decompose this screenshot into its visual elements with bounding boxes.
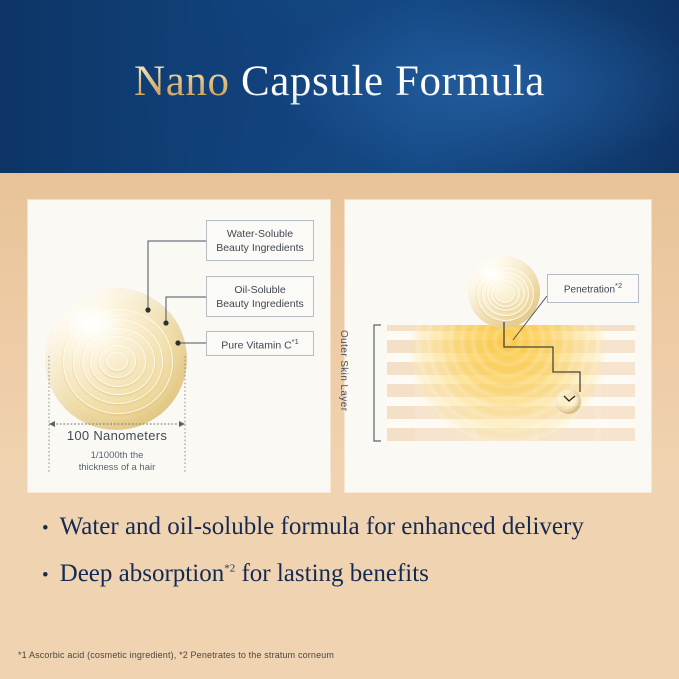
callout-oil-soluble-text: Oil-Soluble Beauty Ingredients <box>216 283 304 311</box>
dimension-label: 100 Nanometers <box>47 428 187 443</box>
list-item: • Deep absorption*2 for lasting benefits <box>42 560 642 588</box>
bullet-dot-icon: • <box>42 566 49 585</box>
dimension-sublabel-line-2: thickness of a hair <box>79 462 156 473</box>
footnote-marker-2: *2 <box>615 281 622 290</box>
page-title: Nano Capsule Formula <box>0 57 679 106</box>
bullet-dot-icon: • <box>42 519 49 538</box>
benefit-bullet-list: • Water and oil-soluble formula for enha… <box>42 513 642 607</box>
nano-capsule-illustration <box>45 288 187 430</box>
callout-line-2: Beauty Ingredients <box>216 298 304 310</box>
outer-skin-layer-label: Outer Skin Layer <box>338 330 349 440</box>
callout-line-1: Oil-Soluble <box>234 284 285 296</box>
callout-penetration[interactable]: Penetration*2 <box>547 274 639 303</box>
callout-water-soluble-text: Water-Soluble Beauty Ingredients <box>216 227 304 255</box>
callout-water-soluble[interactable]: Water-Soluble Beauty Ingredients <box>206 220 314 261</box>
bullet-text-tail: for lasting benefits <box>235 560 429 587</box>
footnote-marker-2: *2 <box>224 563 235 575</box>
list-item: • Water and oil-soluble formula for enha… <box>42 513 642 541</box>
footnote-text: *1 Ascorbic acid (cosmetic ingredient), … <box>18 650 334 660</box>
callout-line-2: Beauty Ingredients <box>216 242 304 254</box>
callout-penetration-text: Penetration*2 <box>564 279 622 297</box>
outer-skin-layer-illustration <box>387 325 635 441</box>
header-banner: Nano Capsule Formula <box>0 0 679 173</box>
bullet-text-main: Deep absorption <box>60 560 225 587</box>
callout-line-1: Penetration <box>564 285 615 296</box>
callout-line-1: Pure Vitamin C <box>221 339 291 351</box>
small-capsule-highlight <box>480 265 507 284</box>
nano-capsule-infographic: Nano Capsule Formula Outer <box>0 0 679 679</box>
callout-pure-vitamin-c-text: Pure Vitamin C*1 <box>221 335 299 353</box>
bullet-text: Deep absorption*2 for lasting benefits <box>60 560 429 588</box>
title-word-capsule-formula: Capsule Formula <box>230 58 545 105</box>
callout-line-1: Water-Soluble <box>227 228 293 240</box>
callout-oil-soluble[interactable]: Oil-Soluble Beauty Ingredients <box>206 276 314 317</box>
penetrated-droplet <box>556 389 581 414</box>
dimension-sublabel: 1/1000th the thickness of a hair <box>47 450 187 474</box>
capsule-highlight <box>68 306 122 344</box>
bullet-text: Water and oil-soluble formula for enhanc… <box>60 513 584 541</box>
dimension-sublabel-line-1: 1/1000th the <box>91 450 144 461</box>
small-capsule-ring-4 <box>495 285 515 303</box>
callout-pure-vitamin-c[interactable]: Pure Vitamin C*1 <box>206 331 314 356</box>
title-word-nano: Nano <box>134 58 230 105</box>
nano-capsule-small-illustration <box>468 256 540 328</box>
footnote-marker-1: *1 <box>292 337 299 346</box>
capsule-ring-5 <box>106 352 128 371</box>
